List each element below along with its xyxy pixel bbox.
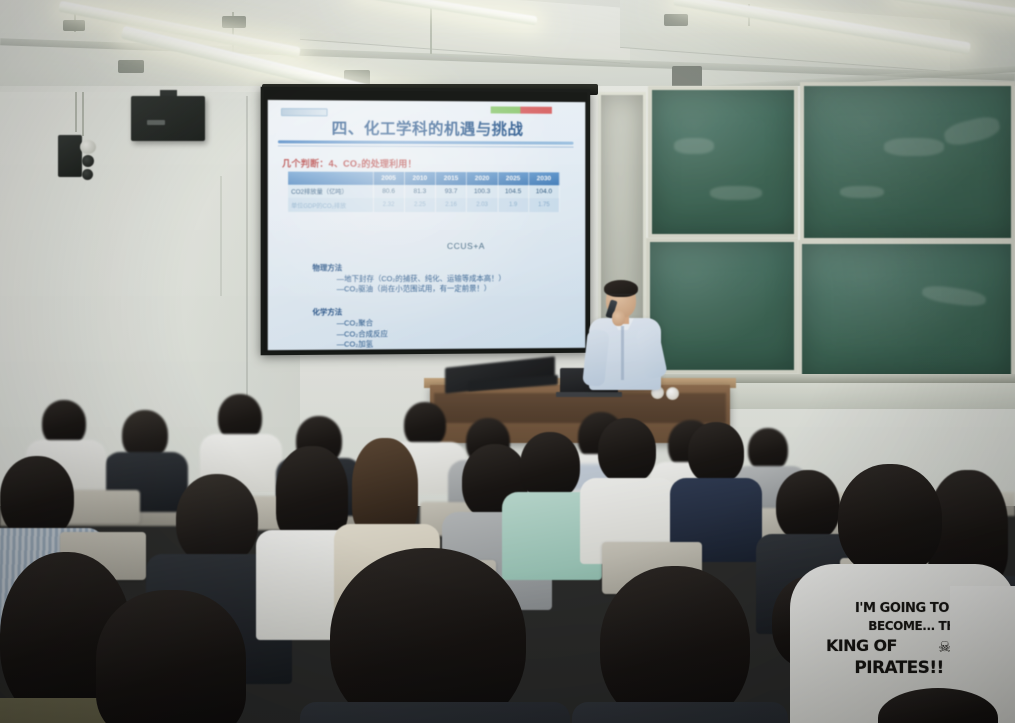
table-col-header: 2015 bbox=[435, 172, 466, 185]
light-fixture bbox=[63, 20, 85, 31]
wall-speaker bbox=[131, 96, 205, 141]
seat-back bbox=[64, 490, 140, 524]
lecturer-hand bbox=[612, 310, 625, 326]
table-cell: 2.32 bbox=[373, 198, 404, 211]
glasses-icon bbox=[609, 294, 633, 299]
light-fixture bbox=[118, 60, 144, 73]
slide-data-table: 2005 2010 2015 2020 2025 2030 CO2排放量（亿吨）… bbox=[288, 172, 560, 212]
table-col-header: 2025 bbox=[498, 172, 529, 185]
chalk-smudge bbox=[674, 138, 714, 154]
light-fixture bbox=[222, 16, 246, 28]
table-header-row: 2005 2010 2015 2020 2025 2030 bbox=[288, 172, 559, 186]
ccus-label: CCUS+A bbox=[447, 241, 485, 251]
bullet-heading: 物理方法 bbox=[312, 263, 573, 274]
chalk-smudge bbox=[921, 284, 987, 309]
student-head bbox=[96, 590, 246, 723]
student-torso bbox=[300, 702, 570, 723]
student-head bbox=[688, 422, 744, 484]
student-head bbox=[520, 432, 580, 500]
chalk-smudge bbox=[710, 186, 762, 200]
chalkboard-panel bbox=[648, 86, 798, 238]
table-cell: 80.6 bbox=[373, 185, 404, 198]
table-col-header: 2020 bbox=[467, 172, 498, 185]
camera-housing bbox=[58, 135, 82, 177]
shirt-text-line: KING OF bbox=[800, 638, 950, 654]
student-head bbox=[276, 446, 348, 542]
student-head bbox=[776, 470, 840, 542]
slide-divider bbox=[278, 140, 574, 144]
student-head bbox=[176, 474, 258, 566]
table-cell: 1.9 bbox=[498, 198, 529, 211]
audience: I'M GOING TO BECOME... THE KING OF ☠ PIR… bbox=[0, 372, 1015, 723]
table-row: 单位GDP的CO₂排放 2.32 2.25 2.16 2.03 1.9 1.75 bbox=[288, 198, 559, 212]
wall-conduit bbox=[220, 176, 222, 296]
chalk-smudge bbox=[840, 186, 884, 198]
student-head bbox=[598, 418, 656, 484]
slide-subtitle: 几个判断：4、CO₂的处理利用！ bbox=[282, 156, 417, 170]
slide-content: 四、化工学科的机遇与挑战 几个判断：4、CO₂的处理利用！ 2005 2010 … bbox=[268, 100, 586, 350]
wall-conduit bbox=[82, 92, 84, 136]
chalkboard-panel bbox=[800, 82, 1015, 242]
chalk-smudge bbox=[884, 138, 944, 156]
student-head bbox=[600, 566, 750, 723]
slide-bullets: 物理方法 —地下封存（CO₂的捕获、纯化、运输等成本高！） —CO₂驱油（尚在小… bbox=[312, 259, 573, 351]
student-head bbox=[330, 548, 526, 723]
camera-lens-icon bbox=[82, 155, 94, 167]
camera-lens-icon bbox=[82, 169, 93, 180]
table-cell: 104.0 bbox=[529, 185, 560, 198]
table-col-header: 2010 bbox=[404, 172, 435, 185]
camera-dome bbox=[80, 140, 96, 154]
bullet-item: —CO₂加氢 bbox=[337, 338, 574, 350]
wall-conduit bbox=[75, 92, 77, 132]
student-head bbox=[352, 438, 418, 538]
student-head bbox=[838, 464, 942, 576]
lecture-hall-photo: 四、化工学科的机遇与挑战 几个判断：4、CO₂的处理利用！ 2005 2010 … bbox=[0, 0, 1015, 723]
slide-title: 四、化工学科的机遇与挑战 bbox=[268, 116, 586, 140]
table-col-header: 2030 bbox=[529, 172, 560, 185]
table-cell: 81.3 bbox=[404, 185, 435, 198]
table-col-header: 2005 bbox=[373, 172, 404, 185]
slide-logo bbox=[281, 108, 328, 116]
projection-screen: 四、化工学科的机遇与挑战 几个判断：4、CO₂的处理利用！ 2005 2010 … bbox=[261, 87, 591, 356]
light-fixture bbox=[664, 14, 688, 26]
table-row: CO2排放量（亿吨） 80.6 81.3 93.7 100.3 104.5 10… bbox=[288, 185, 559, 199]
light-hanger bbox=[430, 8, 432, 54]
table-cell: 100.3 bbox=[467, 185, 498, 198]
chalkboard-panel bbox=[798, 240, 1015, 380]
table-cell: 2.16 bbox=[435, 198, 466, 211]
slide-divider bbox=[278, 145, 574, 147]
table-corner-header bbox=[288, 172, 373, 185]
table-cell: 104.5 bbox=[498, 185, 529, 198]
chalkboard-panel bbox=[646, 238, 798, 374]
table-cell: 93.7 bbox=[435, 185, 466, 198]
table-cell: 1.75 bbox=[529, 199, 560, 212]
spacer bbox=[312, 295, 573, 304]
table-cell: 2.25 bbox=[404, 198, 435, 211]
table-row-label: CO2排放量（亿吨） bbox=[288, 185, 373, 199]
student-torso bbox=[572, 702, 788, 723]
table-row-label: 单位GDP的CO₂排放 bbox=[288, 198, 373, 212]
chalk-smudge bbox=[942, 114, 1002, 149]
slide-decoration bbox=[491, 106, 552, 113]
table-cell: 2.03 bbox=[467, 198, 498, 211]
